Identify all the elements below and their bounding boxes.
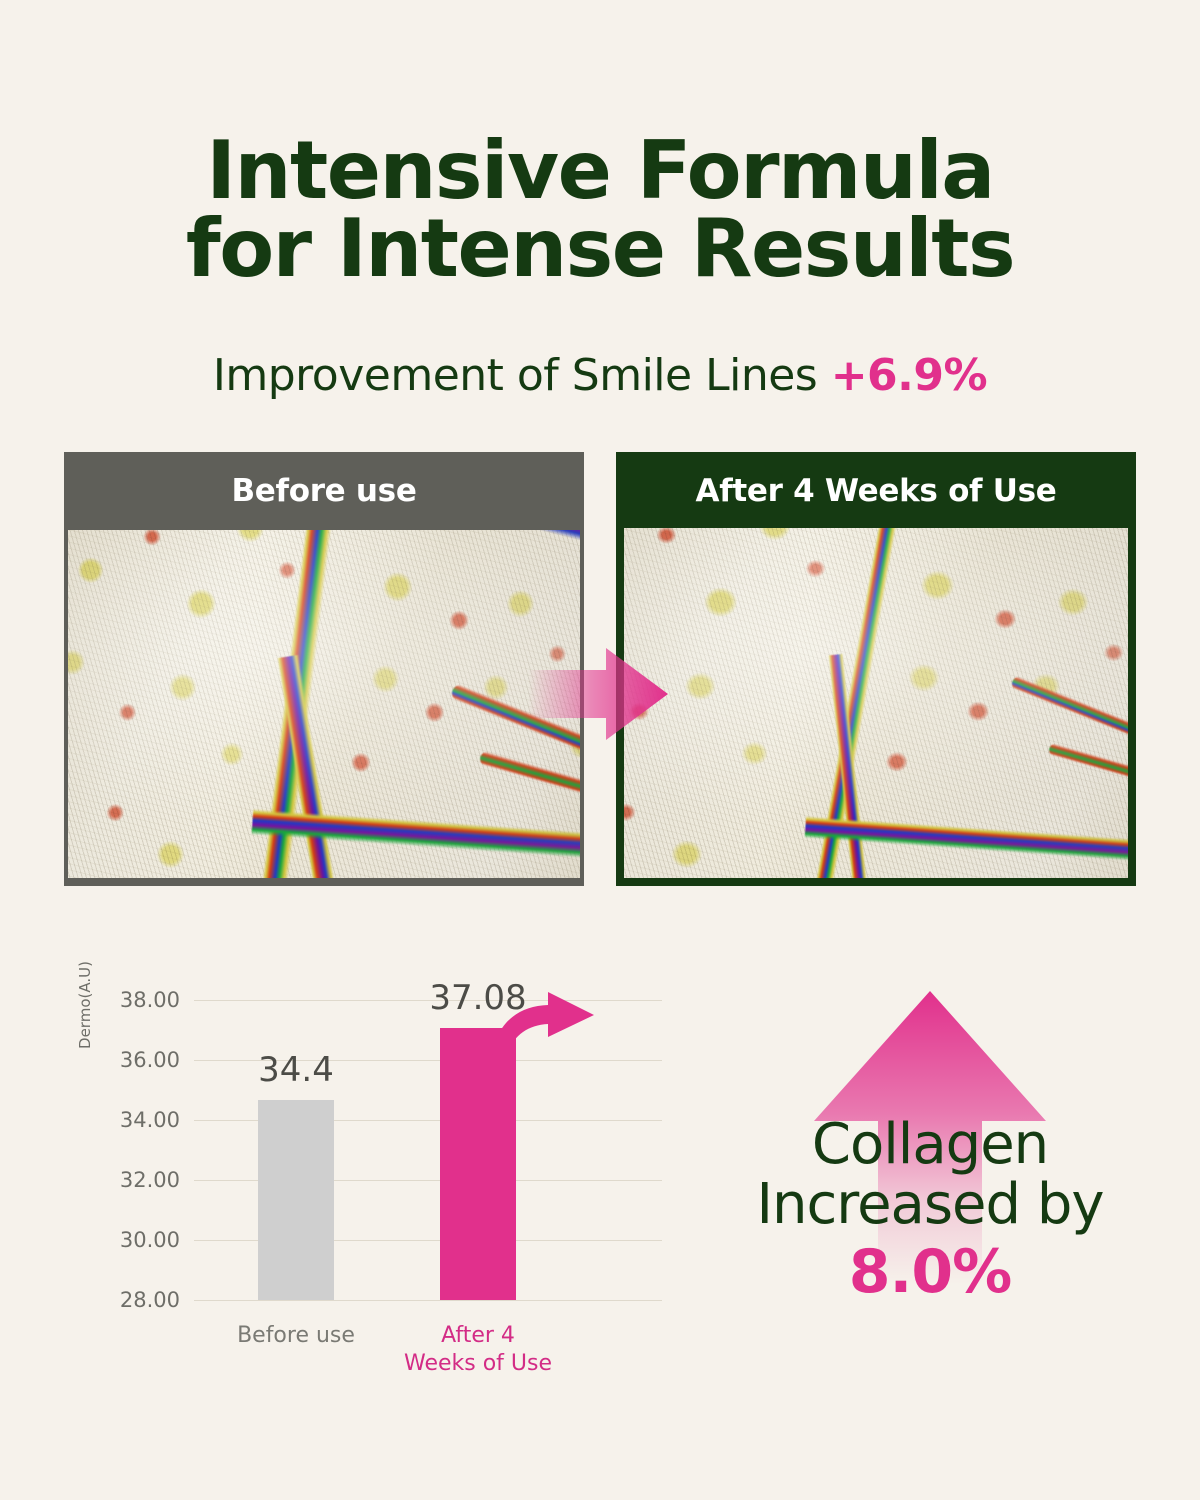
skin-dermoscopy-after-image [624, 528, 1128, 878]
callout-line-1: Collagen [812, 1112, 1048, 1177]
y-axis-title: Dermo(A.U) [76, 925, 94, 1085]
marketing-infographic: Intensive Formula for Intense Results Im… [0, 0, 1200, 1500]
callout-line-2: Increased by [756, 1172, 1103, 1237]
page-title: Intensive Formula for Intense Results [0, 132, 1200, 289]
skin-dermoscopy-before-image [68, 530, 580, 878]
y-tick-label: 34.00 [120, 1108, 180, 1132]
y-tick-label: 32.00 [120, 1168, 180, 1192]
x-axis-label-after: After 4 Weeks of Use [383, 1322, 573, 1377]
panel-after-title: After 4 Weeks of Use [616, 452, 1136, 530]
panel-before: Before use [64, 452, 584, 886]
right-arrow-icon [528, 648, 668, 740]
x-axis-label-before: Before use [201, 1322, 391, 1350]
headline-line-2: for Intense Results [0, 210, 1200, 288]
subtitle: Improvement of Smile Lines +6.9% [0, 350, 1200, 401]
gridline: 28.00 [194, 1300, 662, 1301]
y-tick-label: 38.00 [120, 988, 180, 1012]
x-label-line-1: After 4 [441, 1323, 515, 1348]
bar-before-use: 34.4 [258, 1100, 334, 1300]
y-tick-label: 28.00 [120, 1288, 180, 1312]
y-tick-label: 36.00 [120, 1048, 180, 1072]
collagen-bar-chart: 38.00 36.00 34.00 32.00 30.00 28.00 34.4… [76, 985, 686, 1395]
chart-plot-area: 38.00 36.00 34.00 32.00 30.00 28.00 34.4… [194, 1000, 662, 1300]
bar-after-4-weeks: 37.08 [440, 1028, 516, 1300]
subtitle-text: Improvement of Smile Lines [213, 350, 831, 401]
skin-shading-overlay [68, 530, 580, 878]
panel-after: After 4 Weeks of Use [616, 452, 1136, 886]
callout-text: Collagen Increased by 8.0% [680, 1115, 1180, 1305]
x-label-line-2: Weeks of Use [404, 1351, 552, 1376]
callout-percent: 8.0% [680, 1240, 1180, 1305]
x-label-line-1: Before use [237, 1323, 355, 1348]
curved-up-right-arrow-icon [486, 992, 596, 1062]
y-tick-label: 30.00 [120, 1228, 180, 1252]
bar-value-label: 34.4 [258, 1050, 334, 1090]
skin-shading-overlay [624, 528, 1128, 878]
subtitle-percent: +6.9% [831, 350, 987, 401]
collagen-callout: Collagen Increased by 8.0% [680, 985, 1180, 1405]
panel-before-title: Before use [64, 452, 584, 530]
